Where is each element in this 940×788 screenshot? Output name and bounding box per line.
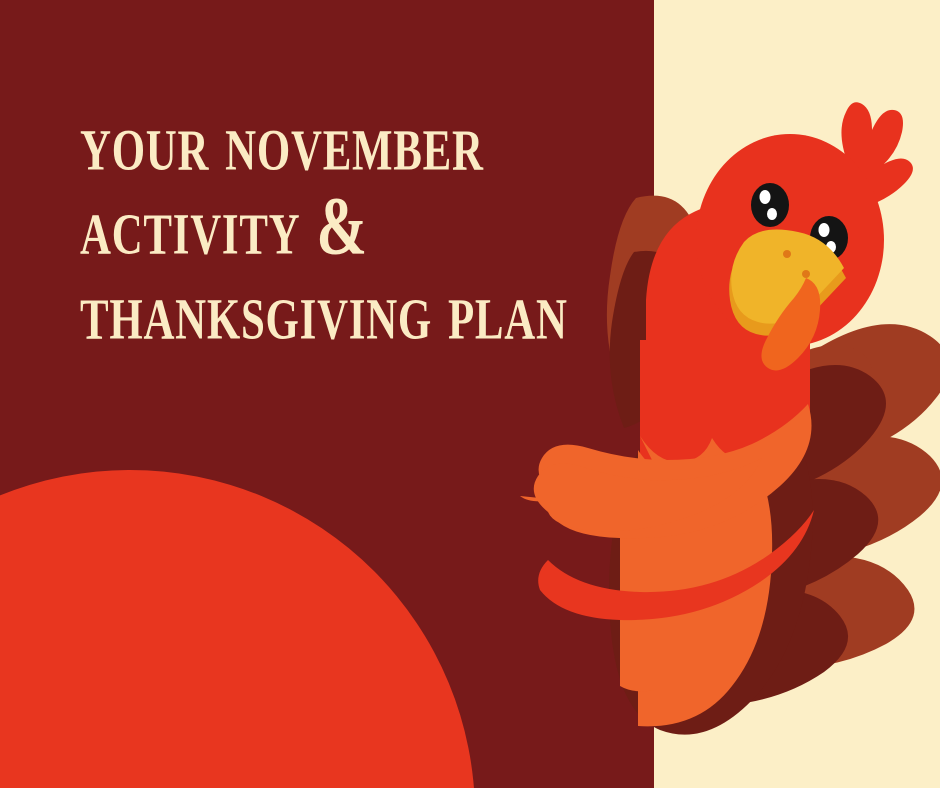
headline-line-2: Activity & [80, 186, 568, 267]
headline-line-1: Your November [80, 102, 568, 183]
headline-line-3: Thanksgiving Plan [80, 271, 568, 352]
poster-canvas: Your November Activity & Thanksgiving Pl… [0, 0, 940, 788]
page-title: Your November Activity & Thanksgiving Pl… [80, 104, 705, 349]
